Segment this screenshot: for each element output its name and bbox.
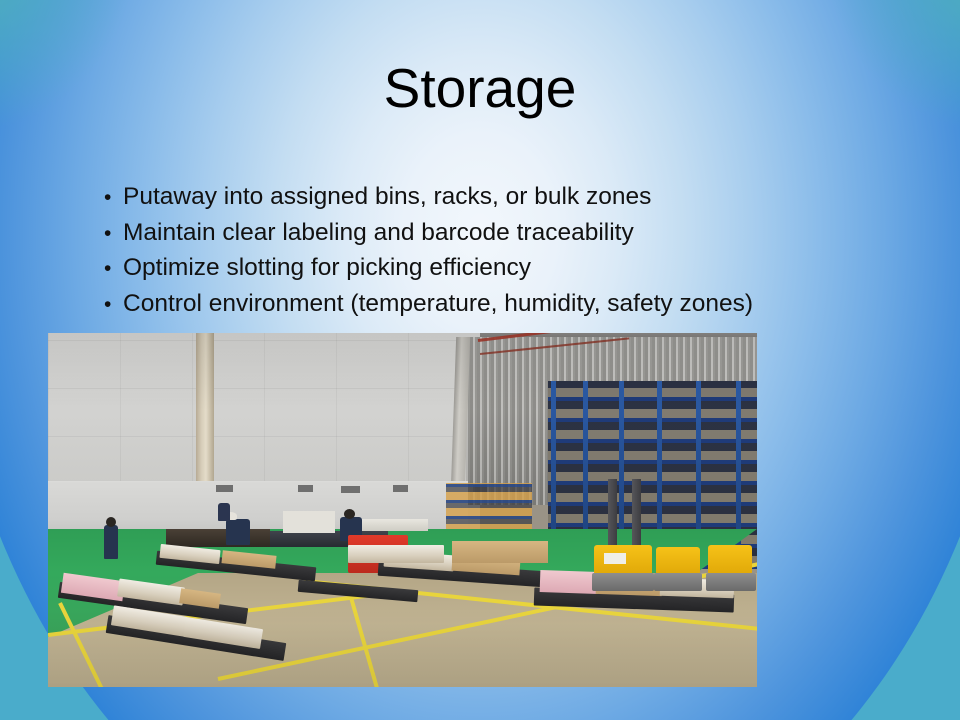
- photo-worker: [226, 519, 250, 545]
- photo-truck-label: [604, 553, 626, 564]
- bullet-item: •Putaway into assigned bins, racks, or b…: [104, 180, 904, 216]
- bullet-marker-icon: •: [104, 181, 123, 216]
- bullet-text: Maintain clear labeling and barcode trac…: [123, 219, 634, 246]
- photo-work-table: [166, 529, 270, 547]
- photo-wall-sign: [298, 485, 313, 492]
- photo-whiteboard: [283, 511, 335, 533]
- bullet-item: •Control environment (temperature, humid…: [104, 287, 904, 323]
- photo-goods: [452, 541, 548, 563]
- photo-electric-pallet-truck: [708, 545, 752, 575]
- bullet-text: Optimize slotting for picking efficiency: [123, 254, 531, 281]
- photo-truck-base: [592, 573, 654, 591]
- warehouse-photo: [48, 333, 757, 687]
- bullet-list: •Putaway into assigned bins, racks, or b…: [104, 180, 904, 322]
- slide-title: Storage: [0, 57, 960, 119]
- photo-small-shelving-unit: [446, 483, 532, 535]
- photo-worker-head: [106, 517, 116, 527]
- photo-worker-head: [344, 509, 355, 519]
- photo-wall-sign: [393, 485, 408, 492]
- photo-worker: [104, 525, 118, 559]
- photo-goods: [348, 545, 444, 563]
- bullet-marker-icon: •: [104, 288, 123, 323]
- bullet-text: Control environment (temperature, humidi…: [123, 290, 753, 317]
- photo-truck-base: [654, 573, 702, 591]
- photo-wall-sign: [216, 485, 233, 492]
- bullet-item: •Maintain clear labeling and barcode tra…: [104, 216, 904, 252]
- photo-truck-base: [706, 573, 756, 591]
- photo-worker: [218, 503, 230, 521]
- photo-goods: [540, 570, 599, 594]
- bullet-item: •Optimize slotting for picking efficienc…: [104, 251, 904, 287]
- photo-electric-pallet-truck: [656, 547, 700, 575]
- bullet-marker-icon: •: [104, 252, 123, 287]
- slide: Storage •Putaway into assigned bins, rac…: [0, 0, 960, 720]
- bullet-marker-icon: •: [104, 217, 123, 252]
- bullet-text: Putaway into assigned bins, racks, or bu…: [123, 183, 651, 210]
- photo-wall-sign: [341, 486, 360, 493]
